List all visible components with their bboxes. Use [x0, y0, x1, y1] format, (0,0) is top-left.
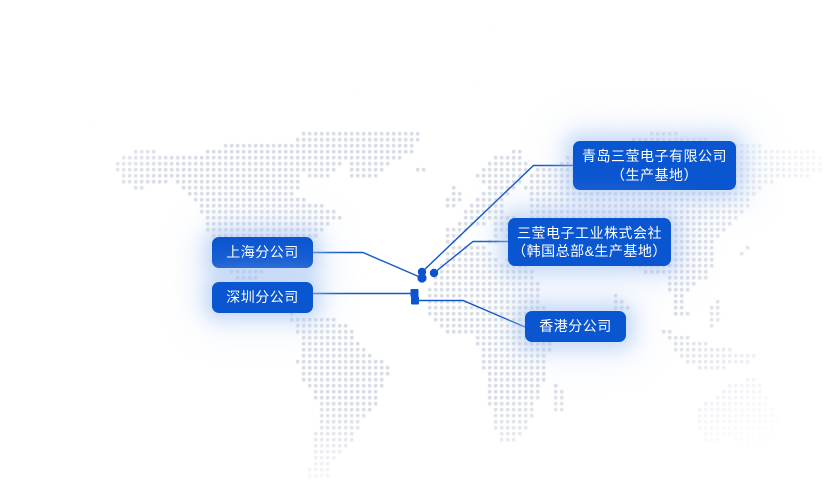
label-shenzhen-branch[interactable]: 深圳分公司 — [212, 282, 313, 313]
label-hongkong-branch[interactable]: 香港分公司 — [525, 311, 626, 342]
label-hongkong-text: 香港分公司 — [539, 317, 612, 335]
map-node-shenzhen — [411, 289, 419, 297]
label-shanghai-branch[interactable]: 上海分公司 — [212, 237, 313, 268]
map-node-shanghai — [417, 273, 426, 282]
label-korea-hq[interactable]: 三莹电子工业株式会社 （韩国总部&生产基地） — [508, 218, 671, 266]
map-node-korea — [430, 269, 438, 277]
label-korea-line1: 三莹电子工业株式会社 — [517, 224, 662, 242]
label-shenzhen-text: 深圳分公司 — [226, 288, 299, 306]
global-map-infographic: 青岛三莹电子有限公司 （生产基地） 三莹电子工业株式会社 （韩国总部&生产基地）… — [0, 0, 824, 480]
label-shanghai-text: 上海分公司 — [226, 243, 299, 261]
connector-shanghai — [313, 253, 422, 279]
label-qingdao-line1: 青岛三莹电子有限公司 — [582, 147, 727, 165]
label-korea-line2: （韩国总部&生产基地） — [512, 242, 667, 260]
label-qingdao[interactable]: 青岛三莹电子有限公司 （生产基地） — [573, 141, 736, 190]
connector-korea — [434, 242, 508, 274]
map-node-hongkong — [411, 297, 419, 305]
label-qingdao-line2: （生产基地） — [611, 166, 698, 184]
connector-lines — [0, 0, 824, 480]
connector-hongkong — [415, 301, 525, 328]
